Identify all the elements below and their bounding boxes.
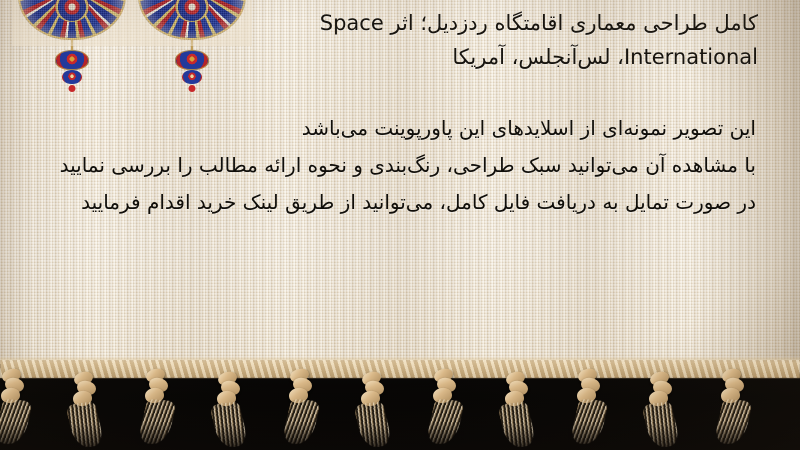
canvas-vignette: [0, 0, 800, 450]
slide-canvas: کامل طراحی معماری اقامتگاه ردزدیل؛ اثر S…: [0, 0, 800, 450]
